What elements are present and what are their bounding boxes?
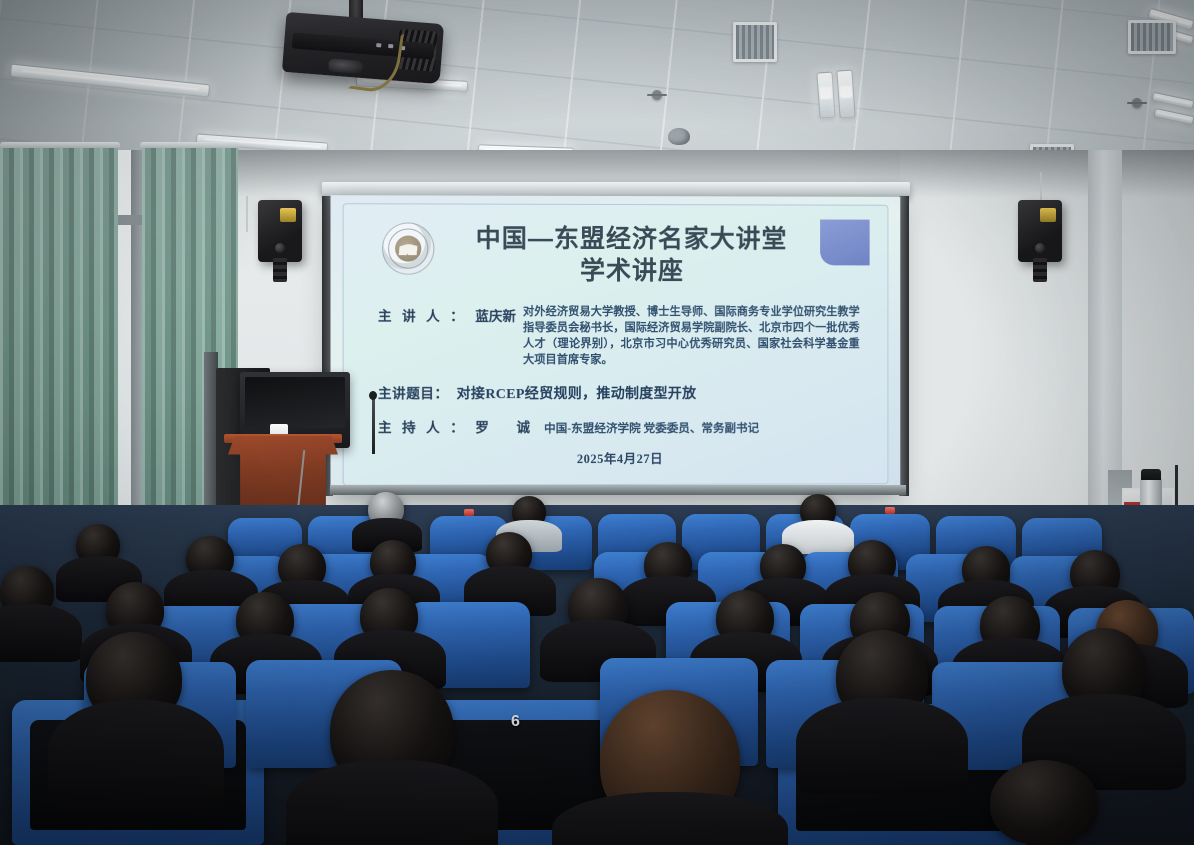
host-row: 主 持 人 ： 罗 诚 中国-东盟经济学院 党委委员、常务副书记 [378,415,860,436]
slide-title-line1: 中国—东盟经济名家大讲堂 [476,225,788,254]
host-label: 主 持 人 ： [378,416,467,436]
slide-inner-frame: 中国—东盟经济名家大讲堂 学术讲座 主 讲 人 ： 蓝庆新 对外经济贸易大学教授… [348,208,884,480]
speaker-bracket [1033,258,1047,282]
speaker-name: 蓝庆新 [475,305,516,369]
topic-label: 主讲题目： [378,382,449,402]
ceiling-sprinkler [652,90,662,100]
person-head [990,760,1098,845]
ceiling-light-fixture [816,71,835,118]
ceiling-light-fixture [836,70,855,119]
ceiling-air-vent [1128,20,1176,54]
host-name: 罗 诚 [475,416,537,436]
speaker-wire-left [246,196,248,232]
lecture-hall-scene: 中国—东盟经济名家大讲堂 学术讲座 主 讲 人 ： 蓝庆新 对外经济贸易大学教授… [0,0,1194,845]
speaker-cone [275,243,285,253]
window-mullion [118,215,142,225]
screen-edge-right [899,196,909,496]
slide-title-line2: 学术讲座 [436,255,826,288]
topic-value: 对接RCEP经贸规则，推动制度型开放 [457,383,697,403]
person-shoulders [286,760,498,845]
speaker-bracket [273,258,287,282]
slide-body: 主 讲 人 ： 蓝庆新 对外经济贸易大学教授、博士生导师、国际商务专业学位研究生… [378,305,860,467]
speaker-wire-right [1040,172,1042,202]
seat-number-label: 6 [511,713,521,731]
university-emblem [382,222,434,274]
person-shoulders [48,700,224,810]
speaker-horn [280,208,296,222]
ceiling-smoke-detector [668,128,690,145]
ceiling-sprinkler [1132,98,1142,108]
wall-speaker-right [1018,200,1062,262]
slide-date: 2025年4月27日 [378,447,860,467]
speaker-label: 主 讲 人 ： [378,305,467,369]
person-shoulders [0,604,82,662]
person-shoulders [796,698,968,794]
topic-row: 主讲题目： 对接RCEP经贸规则，推动制度型开放 [378,381,860,402]
slide-title: 中国—东盟经济名家大讲堂 学术讲座 [436,223,826,288]
monitor-screen [245,377,345,428]
presentation-slide: 中国—东盟经济名家大讲堂 学术讲座 主 讲 人 ： 蓝庆新 对外经济贸易大学教授… [343,203,889,486]
host-affiliation: 中国-东盟经济学院 党委委员、常务副书记 [544,419,759,435]
seat-indicator-lamp [885,507,895,514]
podium-microphone [372,398,375,454]
speaker-row: 主 讲 人 ： 蓝庆新 对外经济贸易大学教授、博士生导师、国际商务专业学位研究生… [378,305,860,369]
speaker-horn [1040,208,1056,222]
projection-screen: 中国—东盟经济名家大讲堂 学术讲座 主 讲 人 ： 蓝庆新 对外经济贸易大学教授… [330,195,900,494]
ceiling-air-vent [733,22,777,62]
seat-indicator-lamp [464,509,474,516]
slide-accent-shape [820,220,870,266]
wall-speaker-left [258,200,302,262]
speaker-bio: 对外经济贸易大学教授、博士生导师、国际商务专业学位研究生教学指导委员会秘书长，国… [523,305,860,369]
speaker-cone [1035,243,1045,253]
